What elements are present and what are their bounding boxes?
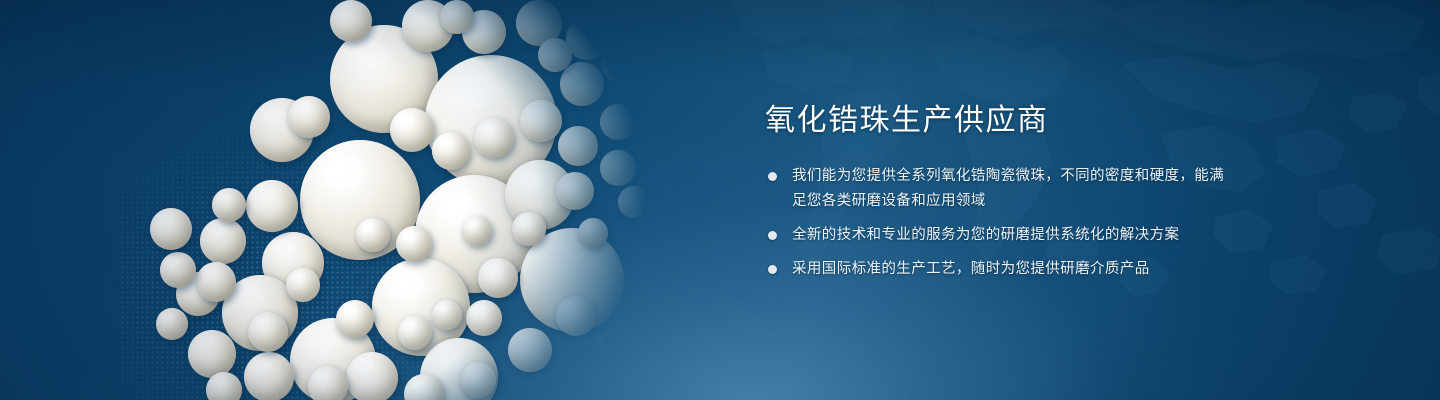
banner-copy: 氧化锆珠生产供应商 我们能为您提供全系列氧化锆陶瓷微珠，不同的密度和硬度，能满足… (765, 104, 1235, 282)
feature-bullet-1: 我们能为您提供全系列氧化锆陶瓷微珠，不同的密度和硬度，能满足您各类研磨设备和应用… (765, 164, 1235, 214)
feature-bullet-3-text: 采用国际标准的生产工艺，随时为您提供研磨介质产品 (792, 261, 1150, 277)
banner-headline: 氧化锆珠生产供应商 (765, 104, 1235, 138)
feature-bullet-1-text: 我们能为您提供全系列氧化锆陶瓷微珠，不同的密度和硬度，能满足您各类研磨设备和应用… (792, 168, 1224, 209)
feature-bullet-3: 采用国际标准的生产工艺，随时为您提供研磨介质产品 (765, 257, 1235, 282)
bullet-dot-icon (768, 265, 777, 274)
feature-bullet-2: 全新的技术和专业的服务为您的研磨提供系统化的解决方案 (765, 223, 1235, 248)
bullet-dot-icon (768, 231, 777, 240)
feature-bullet-2-text: 全新的技术和专业的服务为您的研磨提供系统化的解决方案 (792, 227, 1179, 243)
bullet-dot-icon (768, 172, 777, 181)
hero-banner: 氧化锆珠生产供应商 我们能为您提供全系列氧化锆陶瓷微珠，不同的密度和硬度，能满足… (0, 0, 1440, 400)
feature-bullet-list: 我们能为您提供全系列氧化锆陶瓷微珠，不同的密度和硬度，能满足您各类研磨设备和应用… (765, 164, 1235, 282)
